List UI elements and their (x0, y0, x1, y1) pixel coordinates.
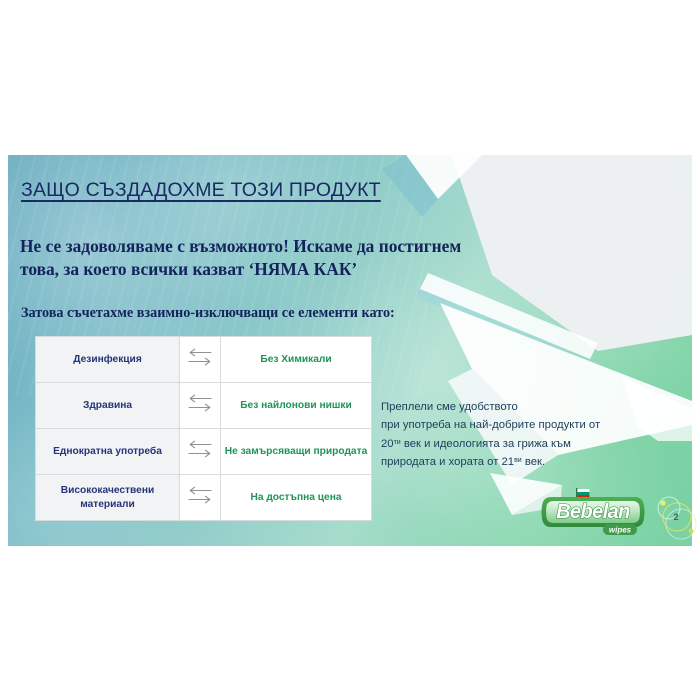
table-cell-right: Без найлонови нишки (221, 383, 372, 429)
slide-lede-text: Не се задоволяваме с възможното! Искаме … (20, 235, 490, 281)
bebelan-logo: Bebelan wipes (537, 486, 649, 538)
table-cell-right: На достъпна цена (221, 475, 372, 521)
swap-arrows-icon (187, 485, 213, 505)
page-number-ornament: 2 (655, 494, 697, 540)
slide-subline-text: Затова съчетахме взаимно-изключващи се е… (21, 305, 501, 322)
note-line-3-post: век и идеологията за грижа към (401, 438, 571, 450)
table-cell-left: Здравина (36, 383, 180, 429)
swap-arrows-icon (187, 439, 213, 459)
note-paragraph: Преплели сме удобството при употреба на … (381, 398, 681, 471)
presentation-slide: ЗАЩО СЪЗДАДОХМЕ ТОЗИ ПРОДУКТ Не се задов… (8, 155, 692, 546)
table-cell-left: Дезинфекция (36, 337, 180, 383)
note-line-3-sup: ти (394, 439, 401, 446)
table-cell-arrow (180, 337, 221, 383)
slide-title: ЗАЩО СЪЗДАДОХМЕ ТОЗИ ПРОДУКТ (21, 179, 381, 202)
page-number: 2 (655, 494, 697, 540)
note-line-2: при употреба на най-добрите продукти от (381, 416, 681, 434)
swap-arrows-icon (187, 393, 213, 413)
svg-text:Bebelan: Bebelan (556, 501, 630, 523)
note-line-4-post: век. (522, 456, 545, 468)
table-cell-arrow (180, 475, 221, 521)
table-cell-arrow (180, 383, 221, 429)
table-row: Еднократна употреба (36, 429, 372, 475)
table-cell-right: Не замърсяващи природата (221, 429, 372, 475)
table-row: Висококачествени материали (36, 475, 372, 521)
note-line-1: Преплели сме удобството (381, 398, 681, 416)
note-line-3: 20ти век и идеологията за грижа към (381, 435, 681, 453)
screenshot-canvas: ЗАЩО СЪЗДАДОХМЕ ТОЗИ ПРОДУКТ Не се задов… (0, 0, 700, 700)
comparison-table: Дезинфекция (35, 336, 372, 521)
table-row: Здравина (36, 383, 372, 429)
note-line-4: природата и хората от 21ви век. (381, 453, 681, 471)
table-cell-arrow (180, 429, 221, 475)
table-row: Дезинфекция (36, 337, 372, 383)
table-cell-left: Еднократна употреба (36, 429, 180, 475)
table-cell-left: Висококачествени материали (36, 475, 180, 521)
note-line-4-pre: природата и хората от 21 (381, 456, 514, 468)
note-line-4-sup: ви (514, 457, 522, 464)
table-cell-right: Без Химикали (221, 337, 372, 383)
swap-arrows-icon (187, 347, 213, 367)
note-line-3-pre: 20 (381, 438, 394, 450)
svg-text:wipes: wipes (609, 525, 632, 534)
